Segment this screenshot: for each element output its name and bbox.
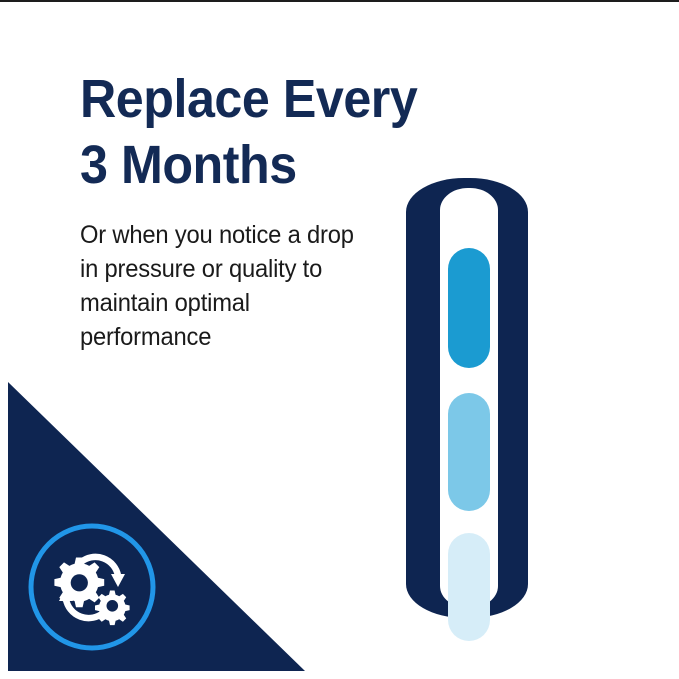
page-title: Replace Every 3 Months <box>80 66 359 198</box>
text-block: Replace Every 3 Months Or when you notic… <box>80 66 380 354</box>
refresh-arrowhead-top <box>111 574 125 587</box>
headline-line-1: Replace Every <box>80 69 417 129</box>
gears-refresh-icon <box>22 517 162 657</box>
water-filter-cartridge <box>406 178 528 618</box>
small-gear-icon <box>95 591 130 626</box>
cartridge-top-segment <box>448 248 490 368</box>
cartridge-middle-segment <box>448 393 490 511</box>
top-edge-hairline <box>0 0 679 2</box>
poster-canvas: Replace Every 3 Months Or when you notic… <box>0 0 679 679</box>
cartridge-core <box>440 188 498 608</box>
subcopy-text: Or when you notice a drop in pressure or… <box>80 218 356 354</box>
cartridge-bottom-segment <box>448 533 490 641</box>
artwork-area: Replace Every 3 Months Or when you notic… <box>8 8 671 671</box>
headline-line-2: 3 Months <box>80 132 359 198</box>
